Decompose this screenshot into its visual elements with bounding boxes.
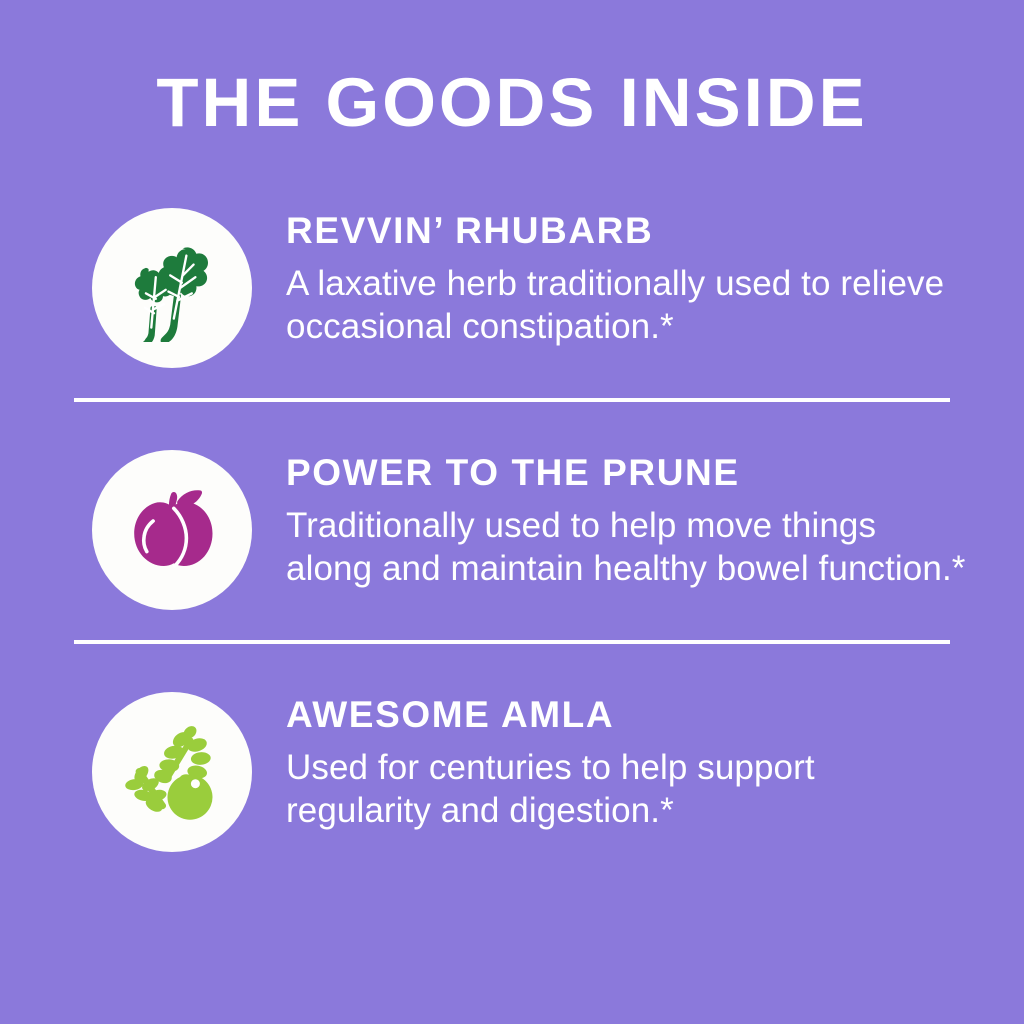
item-heading: REVVIN’ RHUBARB (286, 212, 966, 251)
item-heading: AWESOME AMLA (286, 696, 966, 735)
list-item-revvin-rhubarb: REVVIN’ RHUBARB A laxative herb traditio… (0, 190, 1024, 368)
spacer (0, 644, 1024, 674)
item-body: Traditionally used to help move things a… (286, 505, 966, 590)
item-text-block-rhubarb: REVVIN’ RHUBARB A laxative herb traditio… (252, 190, 1024, 348)
ingredient-benefits-poster: THE GOODS INSIDE (0, 0, 1024, 1024)
spacer (0, 368, 1024, 398)
icon-badge-rhubarb (92, 208, 252, 368)
page-title: THE GOODS INSIDE (0, 68, 1024, 137)
spacer (0, 610, 1024, 640)
prune-fruit-icon (118, 476, 226, 584)
item-text-block-prune: POWER TO THE PRUNE Traditionally used to… (252, 432, 1024, 590)
list-item-power-to-the-prune: POWER TO THE PRUNE Traditionally used to… (0, 432, 1024, 610)
item-body: A laxative herb traditionally used to re… (286, 263, 966, 348)
item-heading: POWER TO THE PRUNE (286, 454, 966, 493)
spacer (0, 402, 1024, 432)
icon-badge-amla (92, 692, 252, 852)
rhubarb-leaves-icon (118, 234, 226, 342)
amla-berry-icon (118, 718, 226, 826)
ingredient-list: REVVIN’ RHUBARB A laxative herb traditio… (0, 190, 1024, 852)
list-item-awesome-amla: AWESOME AMLA Used for centuries to help … (0, 674, 1024, 852)
item-text-block-amla: AWESOME AMLA Used for centuries to help … (252, 674, 1024, 832)
icon-badge-prune (92, 450, 252, 610)
item-body: Used for centuries to help support regul… (286, 747, 966, 832)
